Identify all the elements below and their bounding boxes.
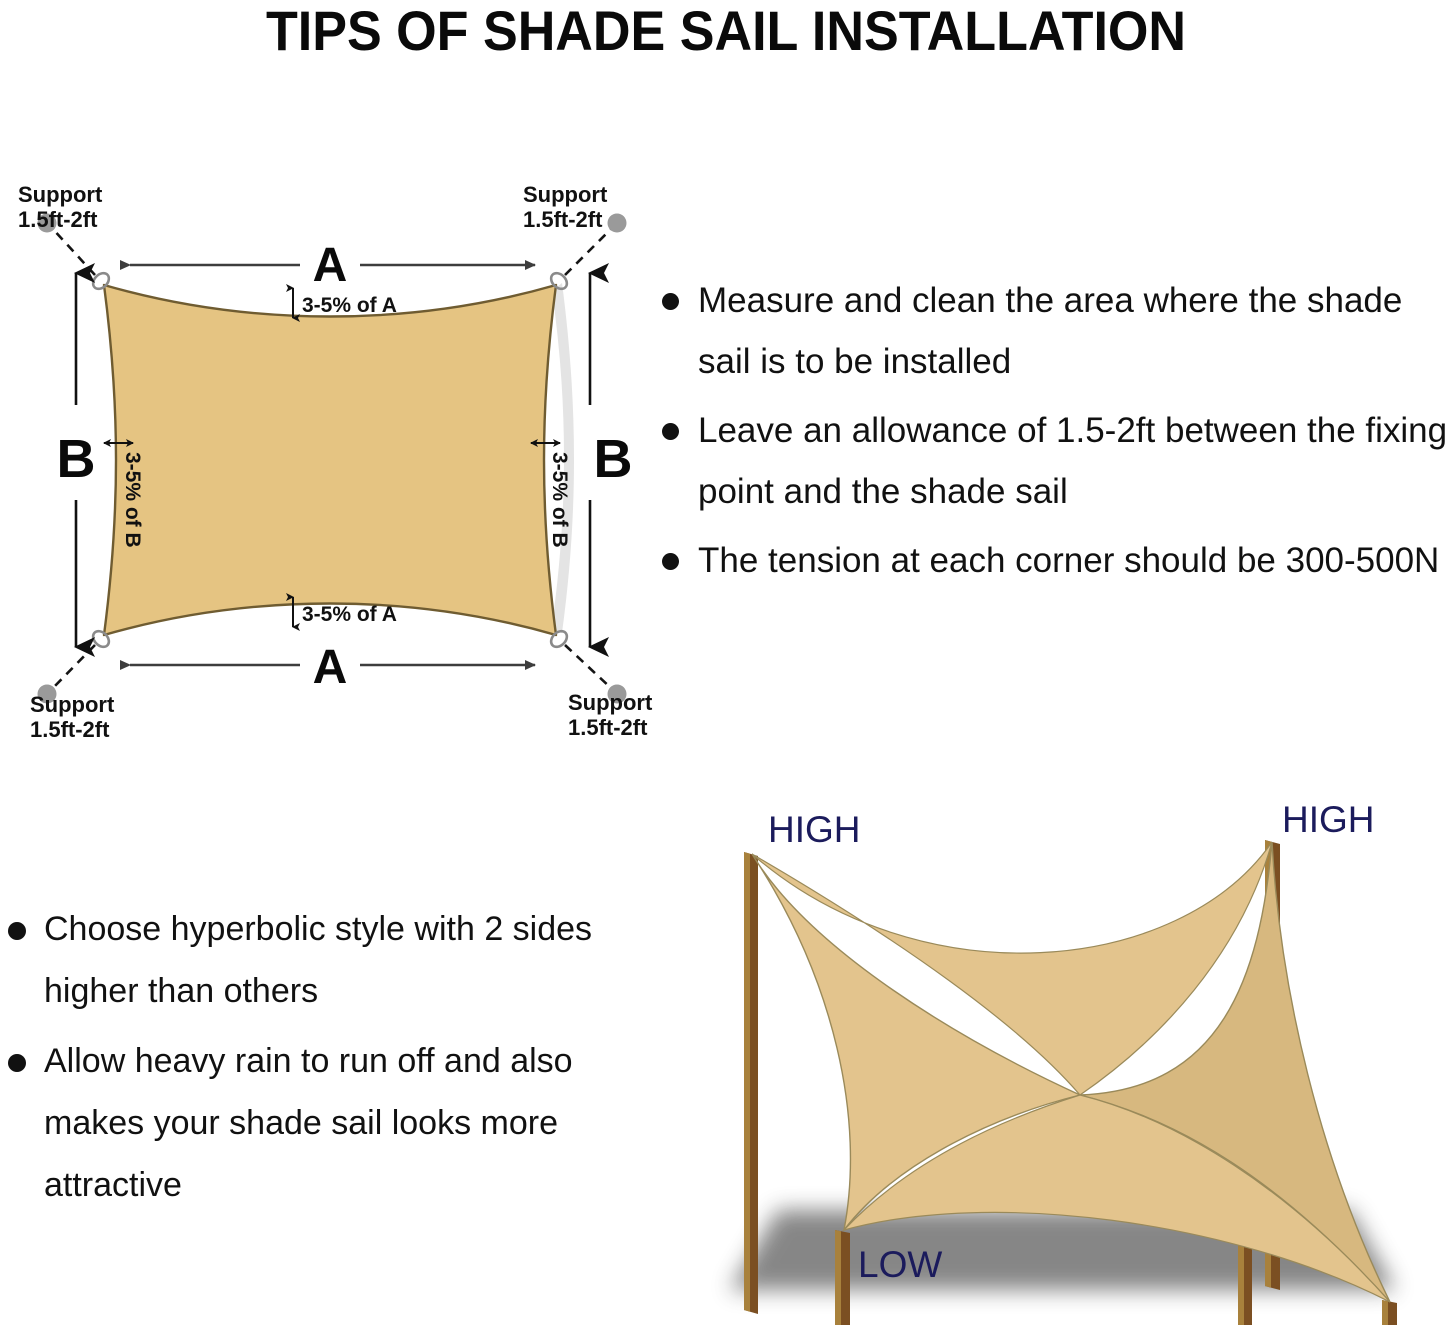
support-label-bottom-right-line1: Support (568, 690, 653, 715)
hyperbolic-tips-list: Choose hyperbolic style with 2 sides hig… (0, 898, 620, 1224)
tip-item-3: The tension at each corner should be 300… (652, 530, 1452, 591)
tolerance-label-right: 3-5% of B (548, 452, 571, 548)
tolerance-label-left: 3-5% of B (121, 452, 144, 548)
hyper-item-1-text: Choose hyperbolic style with 2 sides hig… (44, 910, 592, 1010)
tip-item-1: Measure and clean the area where the sha… (652, 270, 1452, 392)
bullet-dot-icon (8, 1054, 26, 1072)
hyperbolic-sail-diagram: HIGH HIGH LOW LOW (660, 790, 1452, 1325)
support-label-top-right-line1: Support (523, 182, 608, 207)
bullet-dot-icon (8, 922, 26, 940)
bullet-dot-icon (662, 553, 679, 570)
support-label-bottom-right-line2: 1.5ft-2ft (568, 715, 648, 740)
hyper-item-1: Choose hyperbolic style with 2 sides hig… (0, 898, 620, 1022)
label-low-left: LOW (858, 1244, 942, 1285)
page-title: TIPS OF SHADE SAIL INSTALLATION (51, 0, 1401, 62)
post-low-left (835, 1230, 850, 1325)
tip-item-1-text: Measure and clean the area where the sha… (698, 281, 1402, 381)
label-high-right: HIGH (1282, 799, 1375, 840)
dimension-label-a-bottom: A (313, 641, 348, 694)
support-label-top-left-line2: 1.5ft-2ft (18, 207, 98, 232)
rectangular-sail-diagram: Support 1.5ft-2ft Support 1.5ft-2ft Supp… (0, 155, 660, 755)
dimension-label-a-top: A (313, 239, 348, 292)
post-high-left (744, 852, 758, 1314)
support-label-bottom-left-line1: Support (30, 692, 115, 717)
tip-item-2-text: Leave an allowance of 1.5-2ft between th… (698, 411, 1447, 511)
dimension-label-b-right: B (594, 429, 633, 489)
label-high-left: HIGH (768, 809, 861, 850)
tolerance-label-bottom: 3-5% of A (302, 603, 397, 626)
tip-item-2: Leave an allowance of 1.5-2ft between th… (652, 400, 1452, 522)
post-low-right (1382, 1300, 1397, 1325)
support-label-top-left-line1: Support (18, 182, 103, 207)
support-label-bottom-left-line2: 1.5ft-2ft (30, 717, 110, 742)
bullet-dot-icon (662, 293, 679, 310)
installation-tips-list: Measure and clean the area where the sha… (652, 270, 1452, 599)
tolerance-label-top: 3-5% of A (302, 294, 397, 317)
bullet-dot-icon (662, 423, 679, 440)
dimension-label-b-left: B (57, 429, 96, 489)
support-label-top-right-line2: 1.5ft-2ft (523, 207, 603, 232)
hyper-item-2: Allow heavy rain to run off and also mak… (0, 1030, 620, 1216)
tip-item-3-text: The tension at each corner should be 300… (698, 541, 1439, 580)
hyper-item-2-text: Allow heavy rain to run off and also mak… (44, 1042, 573, 1204)
shade-sail-shape (104, 285, 556, 635)
